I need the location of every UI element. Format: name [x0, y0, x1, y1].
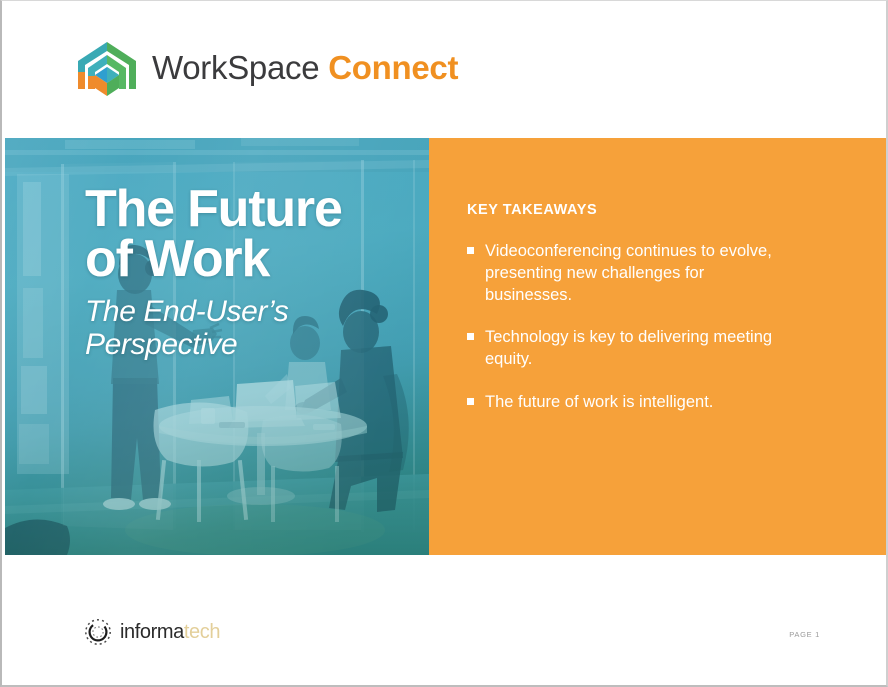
- key-takeaways-heading: KEY TAKEAWAYS: [467, 202, 856, 218]
- nested-cube-logo-icon: [76, 39, 138, 99]
- document-page: WorkSpaceConnect: [0, 0, 888, 687]
- workspace-connect-brand[interactable]: WorkSpaceConnect: [76, 39, 458, 99]
- list-item: Videoconferencing continues to evolve, p…: [467, 240, 781, 306]
- key-takeaways-list: Videoconferencing continues to evolve, p…: [467, 240, 856, 413]
- informa-word-informa: informa: [120, 621, 184, 643]
- informa-swirl-icon: [83, 617, 113, 647]
- list-item-text: Videoconferencing continues to evolve, p…: [485, 242, 772, 304]
- informa-tech-logo[interactable]: informatech: [83, 617, 220, 647]
- brand-word-workspace: WorkSpace: [152, 49, 319, 86]
- square-bullet-icon: [467, 333, 474, 340]
- hero-copy: The Future of Work The End-User’s Perspe…: [85, 184, 425, 362]
- list-item: The future of work is intelligent.: [467, 391, 781, 413]
- key-takeaways-panel: KEY TAKEAWAYS Videoconferencing continue…: [429, 138, 886, 555]
- square-bullet-icon: [467, 398, 474, 405]
- brand-wordmark: WorkSpaceConnect: [152, 51, 458, 87]
- hero-band: The Future of Work The End-User’s Perspe…: [5, 138, 886, 555]
- page-number-label: PAGE 1: [789, 630, 820, 639]
- key-takeaways: KEY TAKEAWAYS Videoconferencing continue…: [467, 202, 856, 413]
- page-subtitle: The End-User’s Perspective: [85, 295, 425, 362]
- list-item: Technology is key to delivering meeting …: [467, 326, 781, 370]
- list-item-text: The future of work is intelligent.: [485, 393, 713, 411]
- informa-word-tech: tech: [184, 621, 220, 643]
- brand-word-connect: Connect: [328, 49, 458, 86]
- square-bullet-icon: [467, 247, 474, 254]
- page-header: WorkSpaceConnect: [2, 1, 886, 138]
- informa-wordmark: informatech: [120, 622, 220, 642]
- list-item-text: Technology is key to delivering meeting …: [485, 328, 772, 368]
- hero-photo-panel: The Future of Work The End-User’s Perspe…: [5, 138, 429, 555]
- page-title: The Future of Work: [85, 184, 425, 285]
